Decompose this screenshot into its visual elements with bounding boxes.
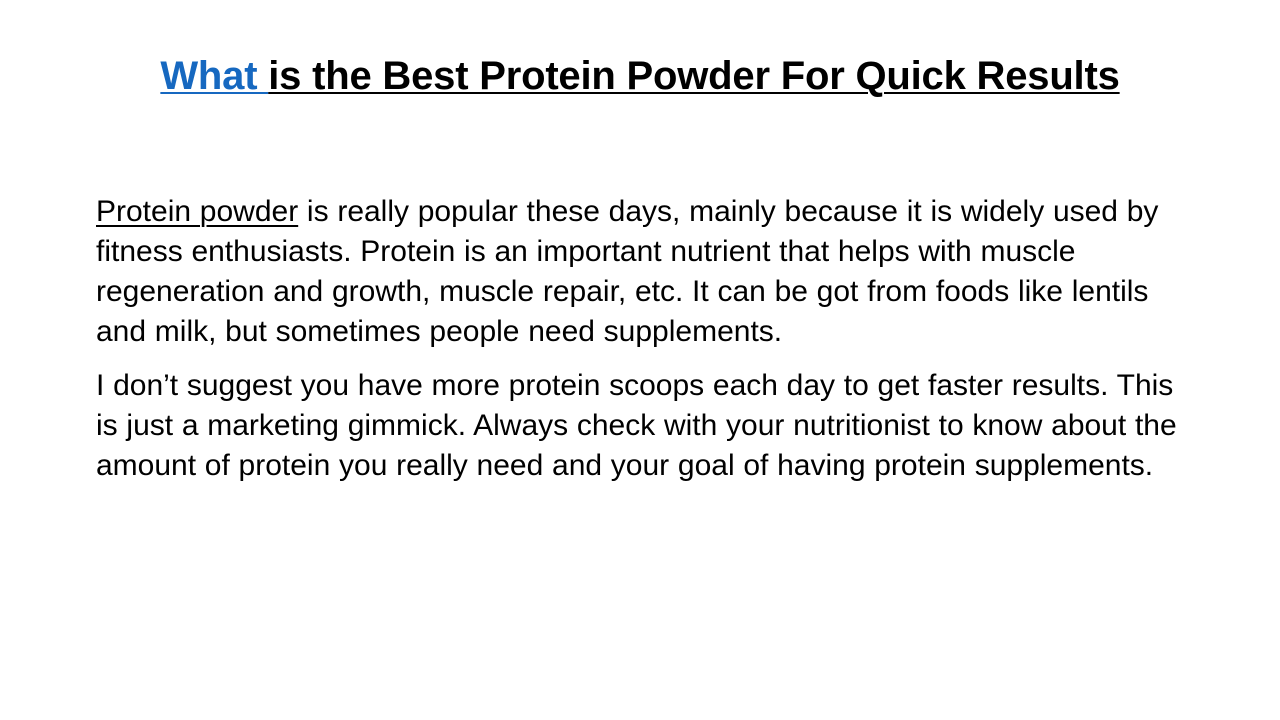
- paragraph-1: Protein powder is really popular these d…: [96, 192, 1178, 352]
- title-hyperlink-what[interactable]: What: [160, 54, 268, 98]
- title-placeholder: What is the Best Protein Powder For Quic…: [64, 52, 1216, 100]
- paragraph-2-text: I don’t suggest you have more protein sc…: [96, 369, 1177, 482]
- title-remainder: is the Best Protein Powder For Quick Res…: [268, 54, 1119, 98]
- slide-canvas: What is the Best Protein Powder For Quic…: [0, 0, 1280, 720]
- body-placeholder: Protein powder is really popular these d…: [96, 192, 1178, 486]
- page-title: What is the Best Protein Powder For Quic…: [64, 52, 1216, 100]
- paragraph-2: I don’t suggest you have more protein sc…: [96, 366, 1178, 486]
- underlined-phrase-protein-powder: Protein powder: [96, 195, 298, 228]
